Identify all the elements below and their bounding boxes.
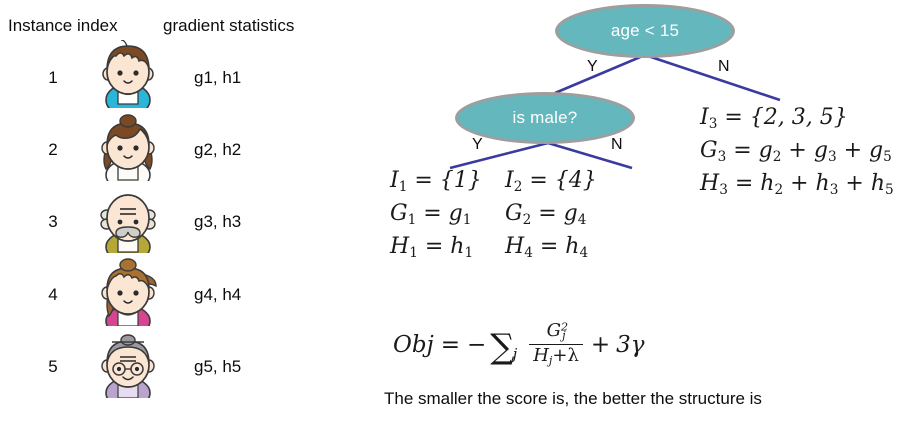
leaf-2-formulas: I2 = {4} G2 = g4 H4 = h4 — [505, 168, 597, 267]
edge-label-child-no: N — [611, 136, 623, 154]
leaf-1-line-I: I1 = {1} — [390, 168, 482, 201]
row-index-1: 1 — [38, 68, 68, 88]
column-header-instance-index: Instance index — [8, 16, 118, 36]
edge-label-child-yes: Y — [472, 136, 483, 154]
objective-fraction: G2j Hj+λ — [529, 321, 583, 367]
objective-equation: Obj = − ∑ j G2j Hj+λ + 3γ — [393, 322, 645, 368]
old-woman-avatar — [96, 330, 160, 398]
leaf-1-line-H: H1 = h1 — [390, 234, 482, 267]
row-stats-1: g1, h1 — [194, 68, 241, 88]
leaf-1-formulas: I1 = {1} G1 = g1 H1 = h1 — [390, 168, 482, 267]
objective-minus: − — [467, 332, 486, 358]
row-stats-2: g2, h2 — [194, 140, 241, 160]
fraction-numerator: G2j — [543, 321, 570, 344]
column-header-gradient-statistics: gradient statistics — [163, 16, 294, 36]
figure-canvas: Instance index gradient statistics 1 g1,… — [0, 0, 920, 421]
summation-index: j — [513, 345, 518, 363]
row-stats-4: g4, h4 — [194, 285, 241, 305]
tree-node-root[interactable]: age < 15 — [555, 4, 735, 58]
tree-node-root-label: age < 15 — [611, 21, 679, 41]
leaf-3-formulas: I3 = {2, 3, 5} G3 = g2 + g3 + g5 H3 = h2… — [700, 105, 894, 204]
objective-plus: + — [591, 332, 610, 358]
summation-icon: ∑ — [490, 330, 514, 364]
row-index-4: 4 — [38, 285, 68, 305]
row-index-2: 2 — [38, 140, 68, 160]
boy-avatar — [96, 40, 160, 108]
leaf-3-line-H: H3 = h2 + h3 + h5 — [700, 171, 894, 204]
leaf-2-line-I: I2 = {4} — [505, 168, 597, 201]
leaf-3-line-G: G3 = g2 + g3 + g5 — [700, 138, 894, 171]
objective-equals: = — [441, 332, 460, 358]
row-stats-3: g3, h3 — [194, 212, 241, 232]
objective-gamma-term: 3γ — [616, 332, 644, 358]
figure-caption: The smaller the score is, the better the… — [384, 389, 762, 409]
leaf-3-line-I: I3 = {2, 3, 5} — [700, 105, 894, 138]
edge-label-root-yes: Y — [587, 58, 598, 76]
leaf-2-line-H: H4 = h4 — [505, 234, 597, 267]
row-index-5: 5 — [38, 357, 68, 377]
row-index-3: 3 — [38, 212, 68, 232]
old-man-avatar — [96, 185, 160, 253]
leaf-2-line-G: G2 = g4 — [505, 201, 597, 234]
edge-label-root-no: N — [718, 58, 730, 76]
young-woman-avatar — [96, 258, 160, 326]
row-stats-5: g5, h5 — [194, 357, 241, 377]
leaf-1-line-G: G1 = g1 — [390, 201, 482, 234]
tree-node-is-male-label: is male? — [513, 108, 578, 128]
objective-lhs: Obj — [393, 332, 434, 358]
girl-avatar — [96, 113, 160, 181]
fraction-denominator: Hj+λ — [529, 344, 583, 368]
